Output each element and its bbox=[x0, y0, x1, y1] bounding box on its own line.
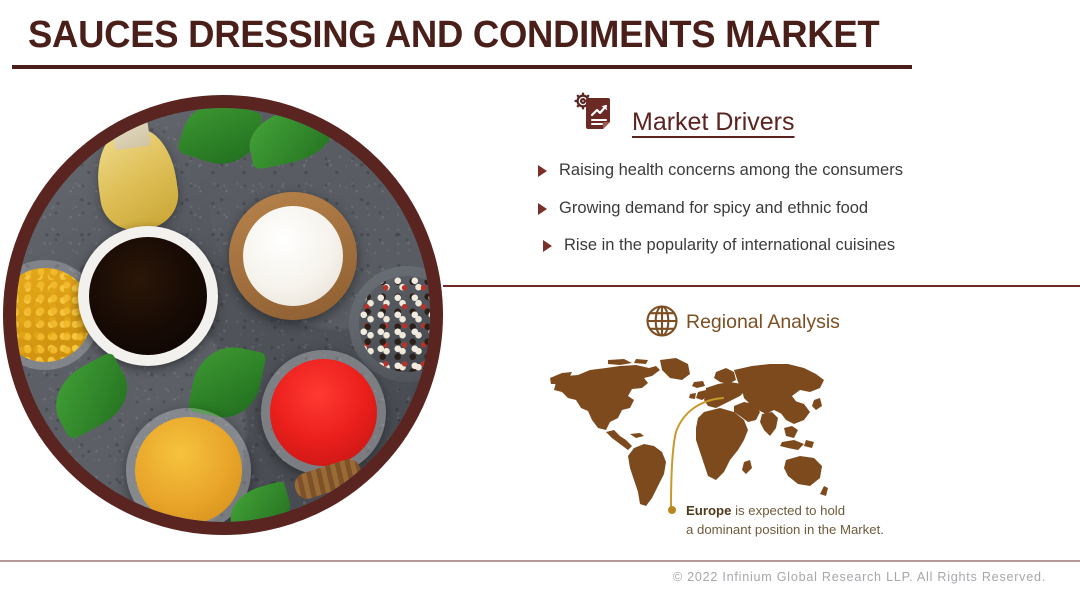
mayonnaise-bowl-icon bbox=[229, 192, 357, 320]
list-item: Growing demand for spicy and ethnic food bbox=[533, 198, 1033, 219]
hero-photo-circle bbox=[3, 95, 443, 535]
driver-text: Growing demand for spicy and ethnic food bbox=[559, 199, 868, 217]
list-item: Rise in the popularity of international … bbox=[533, 235, 1033, 256]
olive-oil-bottle-neck bbox=[109, 108, 150, 150]
title-underline-rule bbox=[12, 65, 912, 69]
callout-region: Europe bbox=[686, 503, 731, 518]
arrow-right-bullet-icon bbox=[538, 203, 547, 215]
arrow-right-bullet-icon bbox=[543, 240, 552, 252]
market-drivers-list: Raising health concerns among the consum… bbox=[533, 160, 1033, 273]
driver-text: Rise in the popularity of international … bbox=[564, 236, 895, 254]
callout-text: is expected to hold bbox=[731, 503, 845, 518]
hero-photo-image bbox=[16, 108, 430, 522]
document-chart-gear-icon bbox=[568, 88, 620, 140]
driver-text: Raising health concerns among the consum… bbox=[559, 161, 903, 179]
market-drivers-heading: Market Drivers bbox=[632, 108, 795, 137]
world-map bbox=[548, 356, 828, 508]
ketchup-bowl-icon bbox=[261, 350, 386, 475]
arrow-right-bullet-icon bbox=[538, 165, 547, 177]
callout-bullet-dot-icon bbox=[668, 506, 676, 514]
footer-copyright: © 2022 Infinium Global Research LLP. All… bbox=[673, 570, 1046, 584]
mustard-bowl-icon bbox=[126, 408, 251, 522]
europe-callout: Europe is expected to hold a dominant po… bbox=[668, 501, 1016, 540]
section-divider-rule bbox=[443, 285, 1080, 287]
soy-sauce-bowl-icon bbox=[78, 226, 218, 366]
regional-analysis-heading: Regional Analysis bbox=[686, 311, 840, 334]
list-item: Raising health concerns among the consum… bbox=[533, 160, 1033, 181]
page-title: SAUCES DRESSING AND CONDIMENTS MARKET bbox=[28, 14, 879, 57]
globe-icon bbox=[645, 304, 679, 338]
footer-divider-rule bbox=[0, 560, 1080, 562]
callout-text-line2: a dominant position in the Market. bbox=[686, 522, 884, 537]
